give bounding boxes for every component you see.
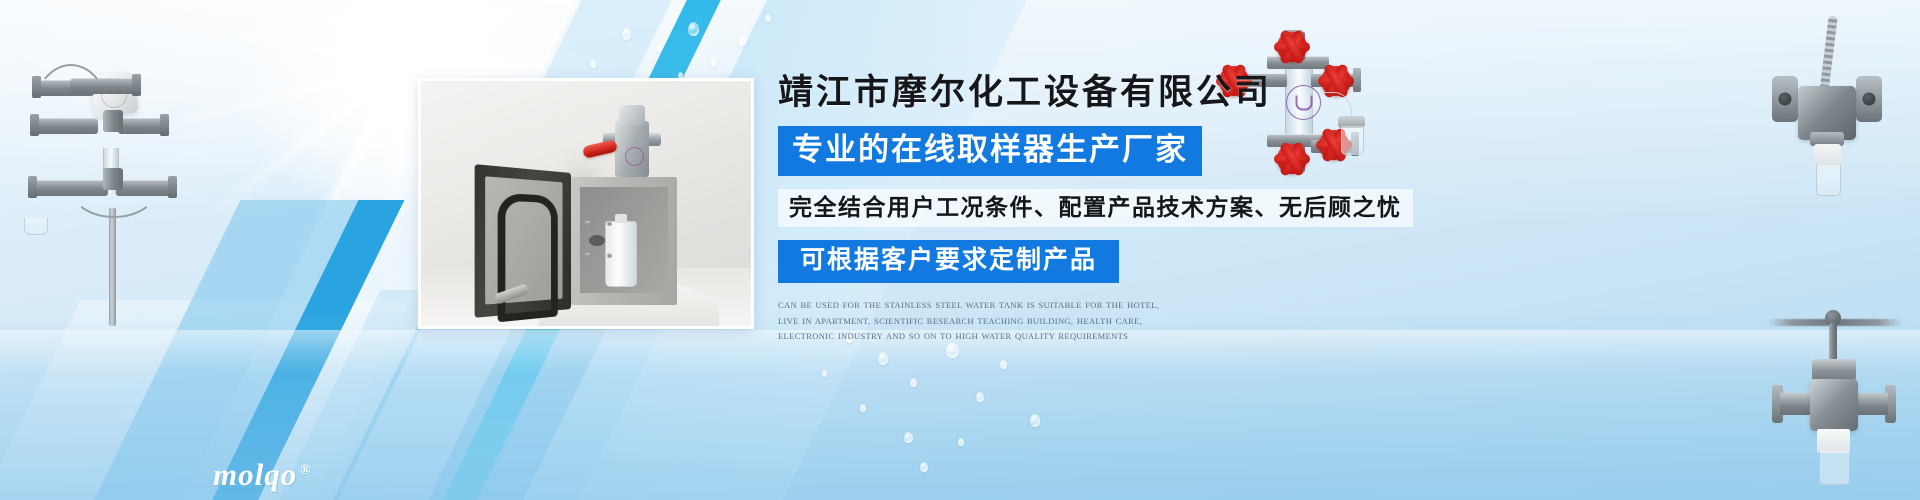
valve-lever-handle [1819,16,1837,95]
english-description: CAN BE USED FOR THE STAINLESS STEEL WATE… [778,298,1178,345]
watermark-text: molqo [213,457,297,492]
promo-banner: 靖江市摩尔化工设备有限公司 专业的在线取样器生产厂家 完全结合用户工况条件、配置… [0,0,1920,500]
sub-headline: 完全结合用户工况条件、配置产品技术方案、无后顾之忧 [778,189,1413,228]
cabinet-open-door [475,164,571,318]
registered-mark-icon: ® [300,463,311,478]
red-valve-handle [582,139,618,158]
headline-badge: 专业的在线取样器生产厂家 [778,126,1202,176]
product-handwheel-sampling-valve [1760,275,1910,490]
product-lever-sampling-valve [1752,22,1902,202]
sampling-cabinet-photo [421,81,751,326]
banner-copy-block: 靖江市摩尔化工设备有限公司 专业的在线取样器生产厂家 完全结合用户工况条件、配置… [778,74,1418,345]
company-name: 靖江市摩尔化工设备有限公司 [778,74,1418,113]
cabinet-top-valve-assembly [597,103,663,183]
brand-watermark: molqo® [213,457,312,493]
red-handwheel-icon [1277,32,1307,62]
tagline-badge: 可根据客户要求定制产品 [778,240,1119,283]
cabinet-enclosure [571,177,677,305]
product-online-sampler-left [8,18,198,318]
product-photo-card [418,78,754,329]
